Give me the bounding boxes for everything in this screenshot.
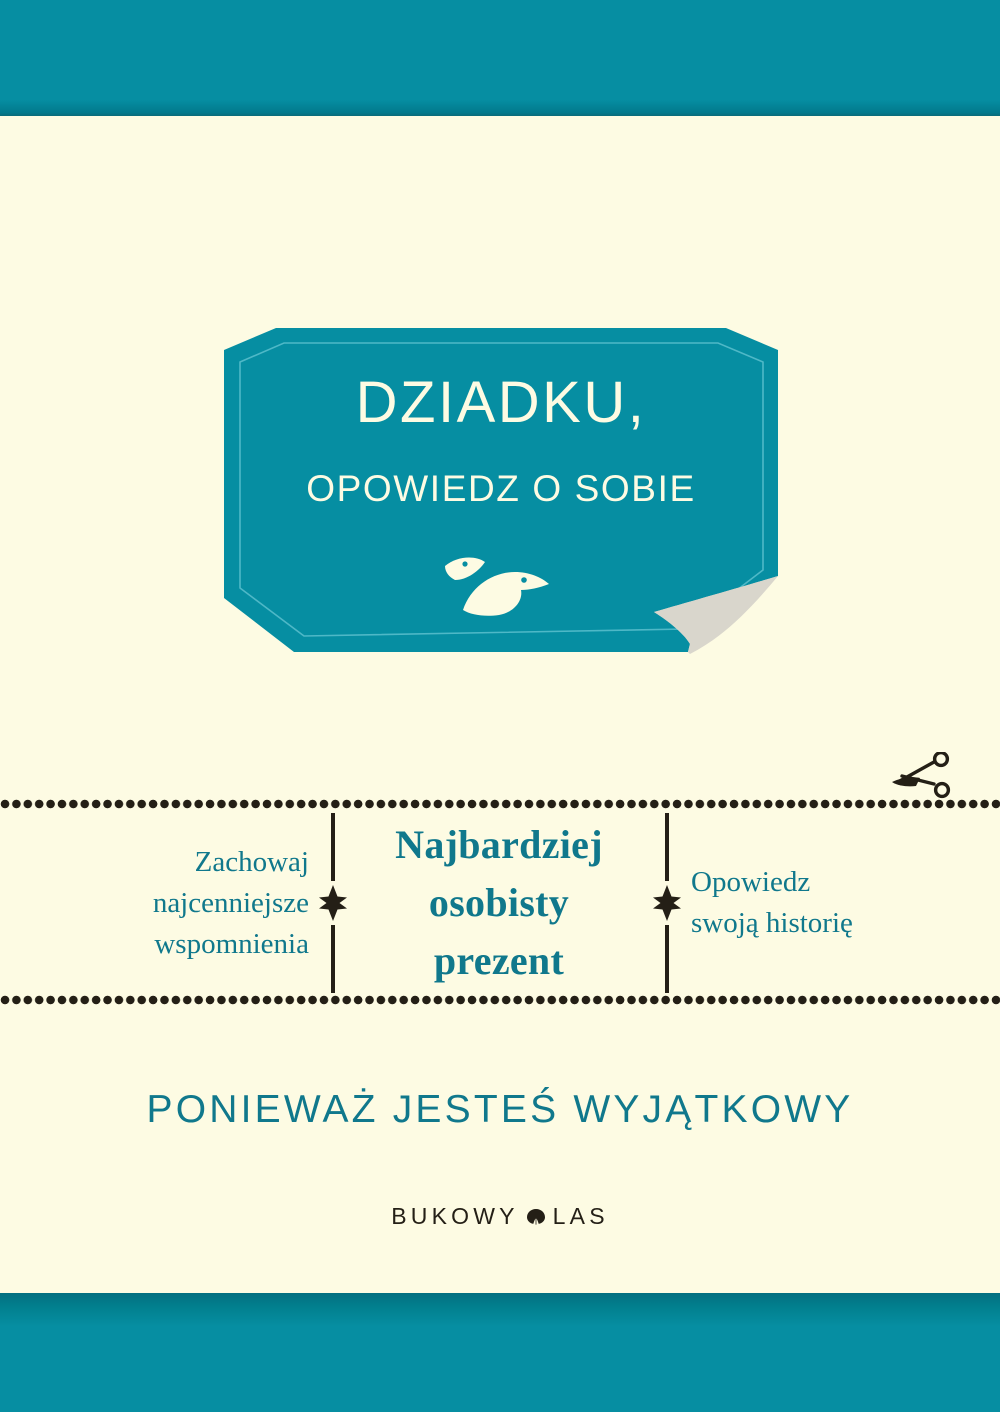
- divider-line-upper: [665, 813, 669, 881]
- book-cover: DZIADKU, OPOWIEDZ O SOBIE: [0, 0, 1000, 1412]
- dotted-cut-line-top: [0, 799, 1000, 809]
- divider-line-lower: [665, 925, 669, 993]
- benefit-left-line-1: Zachowaj: [79, 842, 309, 883]
- tree-icon: [526, 1207, 546, 1227]
- benefit-left-line-3: wspomnienia: [79, 924, 309, 965]
- benefit-right: Opowiedz swoją historię: [683, 862, 921, 944]
- benefit-center: Najbardziej osobisty prezent: [349, 816, 649, 990]
- bird-icon: [441, 546, 561, 618]
- six-point-star-icon: [318, 881, 348, 925]
- six-point-star-icon: [652, 881, 682, 925]
- benefits-band: Zachowaj najcenniejsze wspomnienia Najba…: [0, 812, 1000, 994]
- divider-right: [649, 813, 683, 993]
- benefit-center-line-1: Najbardziej: [349, 816, 649, 874]
- scissors-icon: [886, 752, 954, 800]
- publisher-name-left: BUKOWY: [391, 1203, 518, 1230]
- benefit-center-line-3: prezent: [349, 932, 649, 990]
- title-badge: DZIADKU, OPOWIEDZ O SOBIE: [218, 322, 784, 658]
- divider-left: [315, 813, 349, 993]
- divider-line-upper: [331, 813, 335, 881]
- benefit-right-line-1: Opowiedz: [691, 862, 921, 903]
- publisher-logo: BUKOWY LAS: [0, 1203, 1000, 1230]
- benefit-left-line-2: najcenniejsze: [79, 883, 309, 924]
- top-teal-band: [0, 0, 1000, 116]
- benefit-left: Zachowaj najcenniejsze wspomnienia: [79, 842, 315, 965]
- dotted-cut-line-bottom: [0, 995, 1000, 1005]
- publisher-name-right: LAS: [553, 1203, 609, 1230]
- benefit-right-line-2: swoją historię: [691, 903, 921, 944]
- divider-line-lower: [331, 925, 335, 993]
- benefit-center-line-2: osobisty: [349, 874, 649, 932]
- bottom-teal-band: [0, 1293, 1000, 1412]
- tagline: PONIEWAŻ JESTEŚ WYJĄTKOWY: [0, 1088, 1000, 1132]
